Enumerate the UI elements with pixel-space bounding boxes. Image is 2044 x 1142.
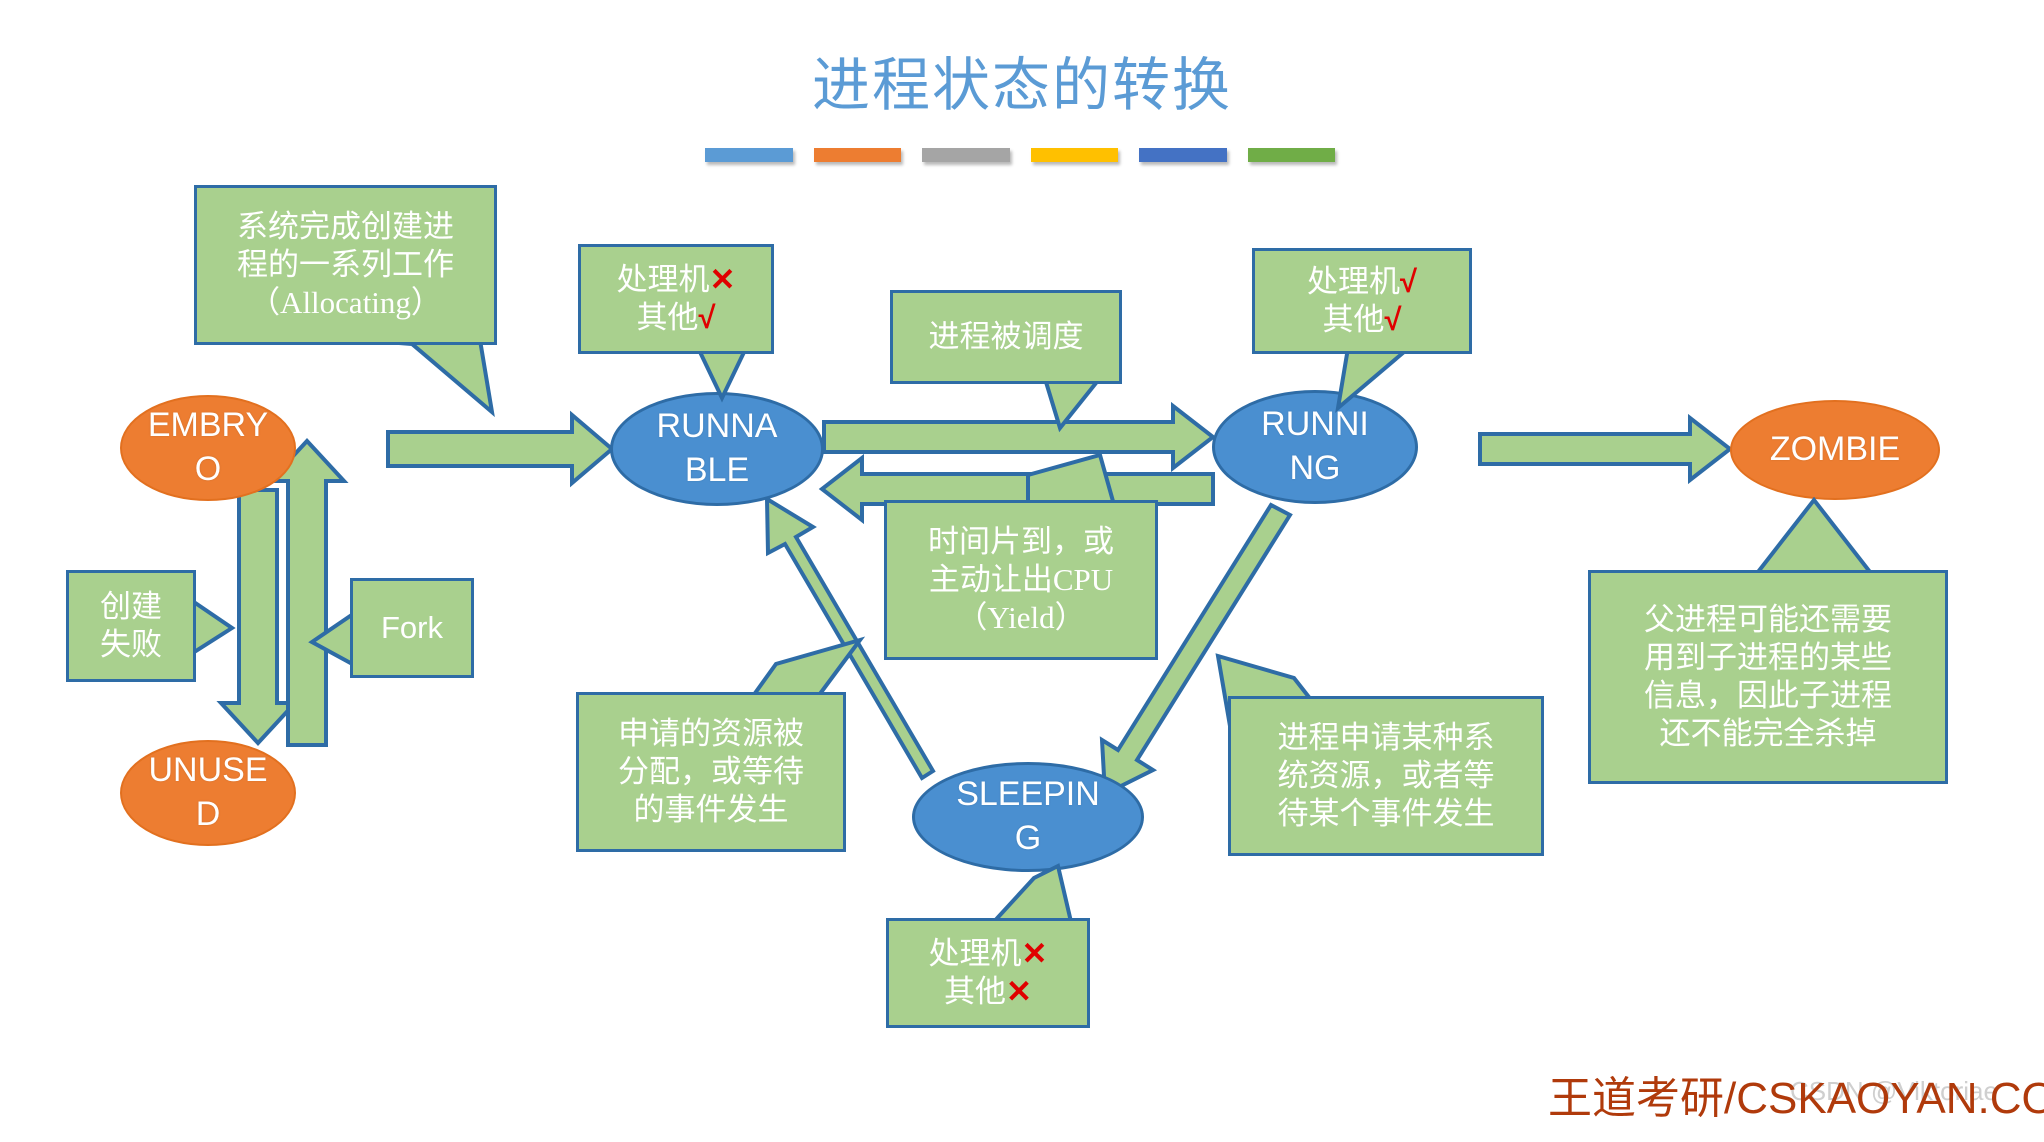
callout-tail-running-resources bbox=[1318, 348, 1438, 418]
callout-resource-granted-line-2: 分配，或等待 bbox=[618, 753, 804, 791]
arrow-running-to-zombie bbox=[1480, 418, 1730, 480]
arrow-unused-to-embryo bbox=[270, 441, 344, 745]
callout-tail-zombie-reason bbox=[1744, 498, 1904, 578]
callout-create-fail-line-1: 创建 bbox=[100, 588, 162, 626]
callout-tail-allocating bbox=[360, 340, 510, 420]
callout-sleeping-resources: 处理机✕ 其他✕ bbox=[886, 918, 1090, 1028]
callout-allocating-line-1: 系统完成创建进 bbox=[237, 208, 454, 246]
state-label-runnable-line2: BLE bbox=[657, 449, 778, 493]
state-label-sleeping-line2: G bbox=[956, 817, 1100, 861]
callout-resource-granted-line-3: 的事件发生 bbox=[618, 791, 804, 829]
callout-running-resources: 处理机√ 其他√ bbox=[1252, 248, 1472, 354]
callout-zombie-reason: 父进程可能还需要 用到子进程的某些 信息，因此子进程 还不能完全杀掉 bbox=[1588, 570, 1948, 784]
state-node-unused[interactable]: UNUSE D bbox=[120, 740, 296, 846]
callout-sleeping-line-2: 其他✕ bbox=[929, 973, 1048, 1011]
cross-icon: ✕ bbox=[1006, 974, 1032, 1009]
callout-tail-scheduled bbox=[1010, 378, 1120, 438]
callout-zombie-line-1: 父进程可能还需要 bbox=[1644, 601, 1892, 639]
callout-fork: Fork bbox=[350, 578, 474, 678]
callout-allocating-line-3: （Allocating） bbox=[237, 284, 454, 322]
callout-allocating: 系统完成创建进 程的一系列工作 （Allocating） bbox=[194, 185, 497, 345]
callout-running-line-1: 处理机√ bbox=[1307, 263, 1417, 301]
state-label-sleeping-line1: SLEEPIN bbox=[956, 773, 1100, 817]
callout-sleeping-line-1: 处理机✕ bbox=[929, 935, 1048, 973]
check-icon: √ bbox=[1384, 302, 1401, 337]
callout-zombie-line-3: 信息，因此子进程 bbox=[1644, 677, 1892, 715]
cross-icon: ✕ bbox=[710, 262, 736, 297]
callout-allocating-line-2: 程的一系列工作 bbox=[237, 246, 454, 284]
state-node-runnable[interactable]: RUNNA BLE bbox=[610, 392, 824, 506]
callout-runnable-line-2: 其他√ bbox=[617, 299, 736, 337]
callout-tail-create-fail bbox=[188, 598, 248, 668]
cross-icon: ✕ bbox=[1022, 936, 1048, 971]
callout-yield-line-1: 时间片到，或 bbox=[928, 523, 1114, 561]
state-node-embryo[interactable]: EMBRY O bbox=[120, 395, 296, 501]
callout-tail-runnable-resources bbox=[660, 348, 770, 408]
callout-request-resource-line-1: 进程申请某种系 bbox=[1278, 719, 1495, 757]
state-label-runnable-line1: RUNNA bbox=[657, 405, 778, 449]
callout-scheduled: 进程被调度 bbox=[890, 290, 1122, 384]
state-label-unused-line2: D bbox=[148, 793, 267, 837]
diagram-canvas: 进程状态的转换 bbox=[0, 0, 2044, 1142]
state-label-embryo-line1: EMBRY bbox=[148, 404, 268, 448]
state-label-embryo-line2: O bbox=[148, 448, 268, 492]
state-label-zombie-line1: ZOMBIE bbox=[1770, 428, 1900, 472]
callout-yield-line-2: 主动让出CPU bbox=[928, 561, 1114, 599]
state-node-zombie[interactable]: ZOMBIE bbox=[1730, 400, 1940, 500]
callout-zombie-line-4: 还不能完全杀掉 bbox=[1644, 715, 1892, 753]
callout-resource-granted: 申请的资源被 分配，或等待 的事件发生 bbox=[576, 692, 846, 852]
callout-request-resource: 进程申请某种系 统资源，或者等 待某个事件发生 bbox=[1228, 696, 1544, 856]
callout-running-line-2: 其他√ bbox=[1307, 301, 1417, 339]
callout-runnable-line-1: 处理机✕ bbox=[617, 261, 736, 299]
arrow-embryo-to-runnable bbox=[388, 415, 612, 483]
callout-create-fail: 创建 失败 bbox=[66, 570, 196, 682]
check-icon: √ bbox=[1400, 264, 1417, 299]
state-node-sleeping[interactable]: SLEEPIN G bbox=[912, 762, 1144, 872]
callout-fork-line-1: Fork bbox=[381, 609, 443, 647]
callout-runnable-resources: 处理机✕ 其他√ bbox=[578, 244, 774, 354]
callout-scheduled-line-1: 进程被调度 bbox=[929, 318, 1084, 356]
callout-create-fail-line-2: 失败 bbox=[100, 626, 162, 664]
callout-request-resource-line-2: 统资源，或者等 bbox=[1278, 757, 1495, 795]
callout-request-resource-line-3: 待某个事件发生 bbox=[1278, 795, 1495, 833]
callout-resource-granted-line-1: 申请的资源被 bbox=[618, 715, 804, 753]
check-icon: √ bbox=[698, 300, 715, 335]
state-label-unused-line1: UNUSE bbox=[148, 749, 267, 793]
callout-zombie-line-2: 用到子进程的某些 bbox=[1644, 639, 1892, 677]
watermark-main: 王道考研/CSKAOYAN.COM bbox=[1548, 1062, 2044, 1126]
callout-yield: 时间片到，或 主动让出CPU （Yield） bbox=[884, 500, 1158, 660]
callout-yield-line-3: （Yield） bbox=[928, 599, 1114, 637]
state-label-running-line2: NG bbox=[1261, 447, 1369, 491]
